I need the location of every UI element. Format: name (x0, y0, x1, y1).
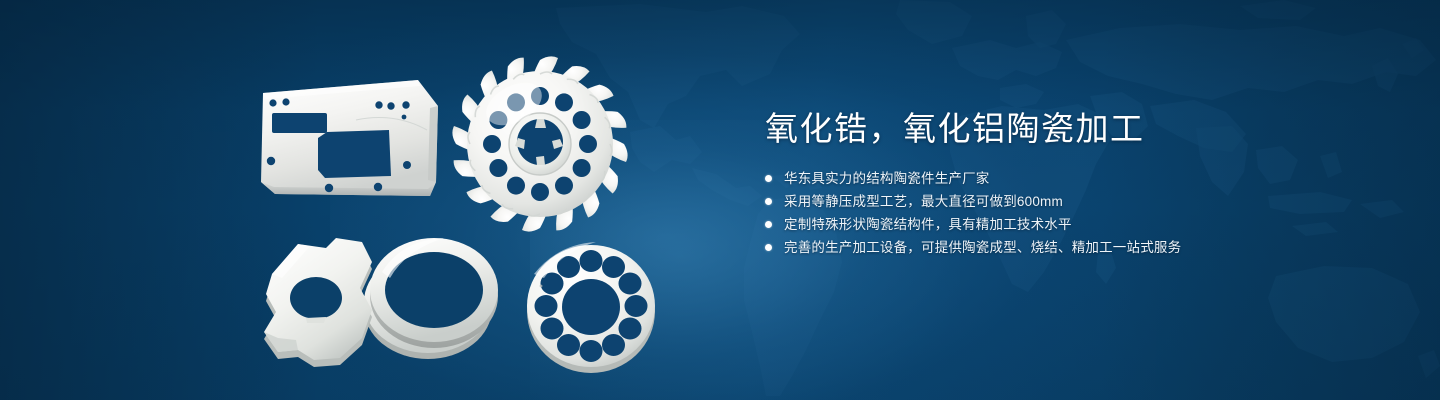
ceramic-impeller-image (452, 52, 632, 232)
list-item: 完善的生产加工设备，可提供陶瓷成型、烧结、精加工一站式服务 (765, 236, 1385, 259)
bullet-dot-icon (765, 198, 772, 205)
list-item-label: 采用等静压成型工艺，最大直径可做到600mm (784, 190, 1063, 213)
hero-banner: 氧化锆，氧化铝陶瓷加工 华东具实力的结构陶瓷件生产厂家 采用等静压成型工艺，最大… (0, 0, 1440, 400)
list-item: 华东具实力的结构陶瓷件生产厂家 (765, 167, 1385, 190)
bullet-dot-icon (765, 175, 772, 182)
list-item-label: 华东具实力的结构陶瓷件生产厂家 (784, 167, 990, 190)
ceramic-cross-image (252, 228, 514, 383)
list-item-label: 定制特殊形状陶瓷结构件，具有精加工技术水平 (784, 213, 1072, 236)
ceramic-plate-image (252, 72, 452, 202)
feature-list: 华东具实力的结构陶瓷件生产厂家 采用等静压成型工艺，最大直径可做到600mm 定… (765, 167, 1385, 259)
banner-text-block: 氧化锆，氧化铝陶瓷加工 华东具实力的结构陶瓷件生产厂家 采用等静压成型工艺，最大… (765, 108, 1385, 259)
list-item: 定制特殊形状陶瓷结构件，具有精加工技术水平 (765, 213, 1385, 236)
bullet-dot-icon (765, 221, 772, 228)
page-title: 氧化锆，氧化铝陶瓷加工 (765, 108, 1385, 150)
product-image-group (0, 0, 720, 400)
list-item: 采用等静压成型工艺，最大直径可做到600mm (765, 190, 1385, 213)
list-item-label: 完善的生产加工设备，可提供陶瓷成型、烧结、精加工一站式服务 (784, 236, 1181, 259)
ceramic-ring-image (512, 228, 672, 383)
bullet-dot-icon (765, 244, 772, 251)
